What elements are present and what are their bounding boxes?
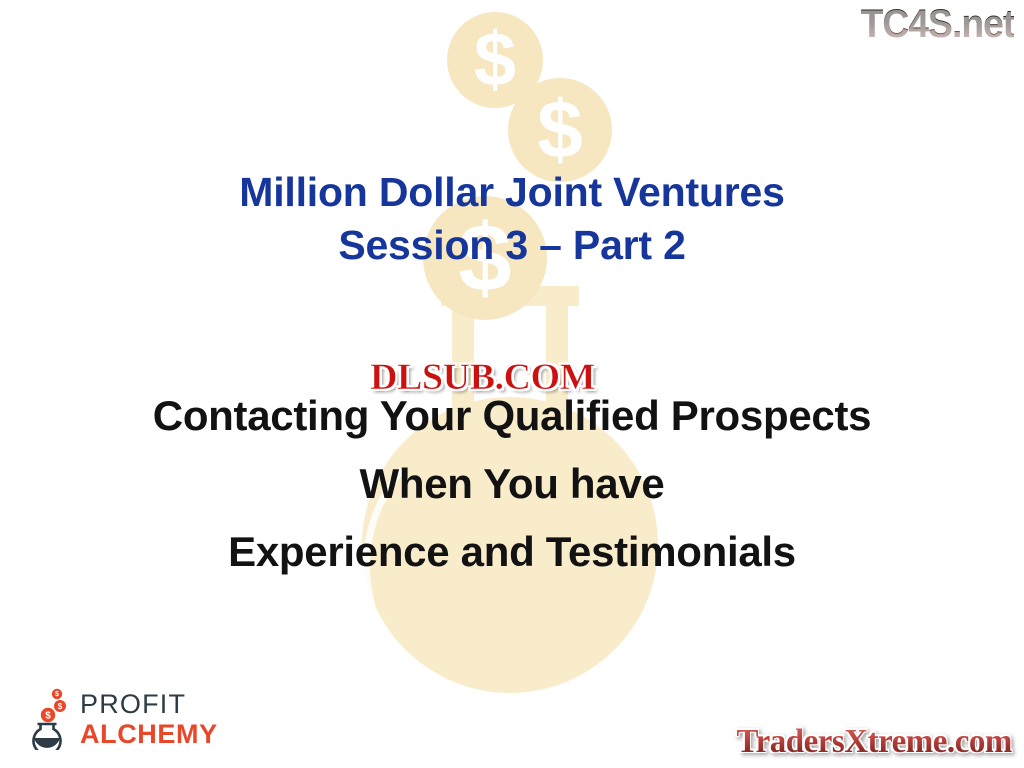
coin-top-left-icon: $ <box>447 12 543 108</box>
subtitle-line-2: When You have <box>0 450 1024 518</box>
slide-title: Million Dollar Joint Ventures Session 3 … <box>0 166 1024 272</box>
dollar-bubble-group: $ $ $ <box>41 689 66 722</box>
title-line-1: Million Dollar Joint Ventures <box>0 166 1024 219</box>
dlsub-watermark: DLSUB.COM <box>370 358 595 398</box>
svg-text:$: $ <box>58 702 63 711</box>
svg-text:$: $ <box>45 710 51 721</box>
title-line-2: Session 3 – Part 2 <box>0 219 1024 272</box>
profit-alchemy-logo: $ $ $ PROFIT ALCHEMY <box>26 688 218 750</box>
tc4s-wordmark: TC4S.net <box>860 4 1014 44</box>
slide-subtitle: Contacting Your Qualified Prospects When… <box>0 382 1024 586</box>
flask-icon: $ $ $ <box>26 688 72 750</box>
svg-text:$: $ <box>474 18 516 103</box>
profit-alchemy-wordmark: PROFIT ALCHEMY <box>80 691 218 750</box>
tradersxtreme-wordmark: TradersXtreme.com <box>737 722 1012 762</box>
logo-word-profit: PROFIT <box>80 691 218 718</box>
svg-text:$: $ <box>55 691 59 698</box>
svg-text:$: $ <box>537 85 583 176</box>
subtitle-line-3: Experience and Testimonials <box>0 518 1024 586</box>
flask-liquid <box>34 738 60 748</box>
slide-canvas: $ $ $ TC4S.net Million Dollar Joint Vent… <box>0 0 1024 768</box>
logo-word-alchemy: ALCHEMY <box>80 721 218 748</box>
